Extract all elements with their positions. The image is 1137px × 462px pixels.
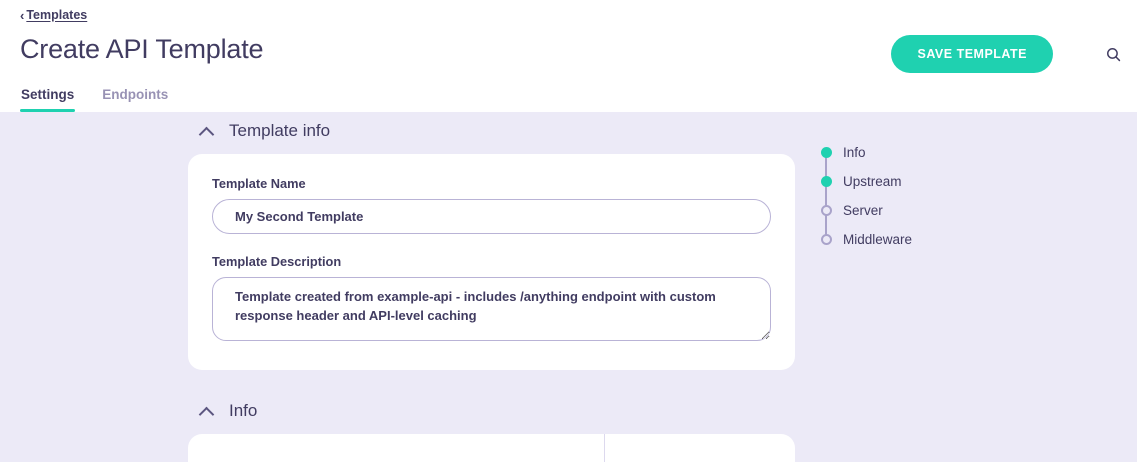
template-description-label: Template Description — [212, 254, 771, 269]
breadcrumb-back-templates[interactable]: ‹ Templates — [20, 8, 87, 22]
tab-bar: Settings Endpoints — [20, 87, 169, 112]
stepper-marker — [818, 138, 834, 167]
search-button[interactable] — [1101, 42, 1125, 66]
info-card-right-column — [605, 434, 795, 462]
form-column: Template info Template Name Template Des… — [188, 112, 795, 462]
section-header-info[interactable]: Info — [188, 392, 795, 430]
info-card — [188, 434, 795, 462]
page-header: ‹ Templates Create API Template SAVE TEM… — [0, 0, 1137, 112]
stepper-label-server: Server — [843, 203, 883, 218]
search-icon — [1105, 46, 1122, 63]
stepper-marker — [818, 196, 834, 225]
template-name-label: Template Name — [212, 176, 771, 191]
tab-settings[interactable]: Settings — [20, 87, 75, 112]
stepper-item-upstream[interactable]: Upstream — [818, 167, 912, 196]
stepper-label-upstream: Upstream — [843, 174, 902, 189]
stepper-dot-empty-icon — [821, 234, 832, 245]
chevron-left-icon: ‹ — [20, 9, 24, 22]
save-template-button[interactable]: SAVE TEMPLATE — [891, 35, 1053, 73]
template-description-textarea[interactable] — [212, 277, 771, 341]
breadcrumb-label: Templates — [26, 8, 87, 22]
template-name-input[interactable] — [212, 199, 771, 234]
stepper-label-info: Info — [843, 145, 866, 160]
progress-stepper: Info Upstream Server — [818, 138, 912, 254]
page-content: Template info Template Name Template Des… — [0, 112, 1137, 462]
stepper-dot-filled-icon — [821, 176, 832, 187]
chevron-up-icon — [200, 404, 214, 418]
chevron-up-icon — [200, 124, 214, 138]
stepper-item-middleware[interactable]: Middleware — [818, 225, 912, 254]
section-title-info: Info — [229, 401, 257, 421]
page-title: Create API Template — [20, 34, 263, 65]
stepper-dot-filled-icon — [821, 147, 832, 158]
stepper-item-info[interactable]: Info — [818, 138, 912, 167]
info-card-left-column — [188, 434, 605, 462]
app-root: ‹ Templates Create API Template SAVE TEM… — [0, 0, 1137, 462]
stepper-dot-empty-icon — [821, 205, 832, 216]
stepper-item-server[interactable]: Server — [818, 196, 912, 225]
section-header-template-info[interactable]: Template info — [188, 112, 795, 150]
stepper-marker — [818, 167, 834, 196]
stepper-marker — [818, 225, 834, 254]
stepper-label-middleware: Middleware — [843, 232, 912, 247]
template-info-card: Template Name Template Description — [188, 154, 795, 370]
tab-endpoints[interactable]: Endpoints — [101, 87, 169, 112]
field-spacer — [212, 234, 771, 254]
section-title-template-info: Template info — [229, 121, 330, 141]
